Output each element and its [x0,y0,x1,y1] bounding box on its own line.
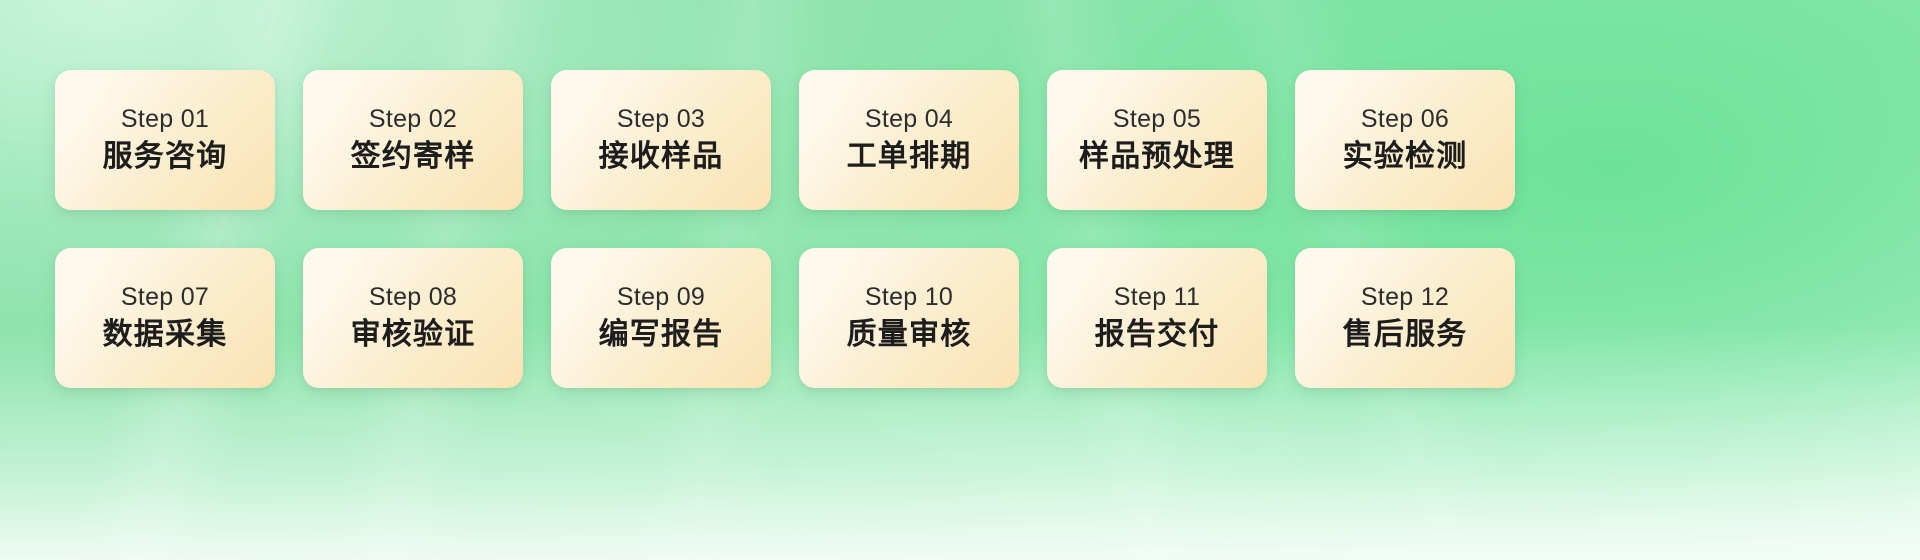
step-label: 服务咨询 [103,140,228,175]
step-label: 签约寄样 [351,140,476,175]
step-label: 报告交付 [1095,318,1220,353]
step-number: Step 01 [121,106,209,134]
step-label: 工单排期 [847,140,972,175]
step-card-04[interactable]: Step 04 工单排期 [799,70,1019,210]
step-number: Step 10 [865,284,953,312]
step-card-07[interactable]: Step 07 数据采集 [55,248,275,388]
step-card-05[interactable]: Step 05 样品预处理 [1047,70,1267,210]
step-number: Step 02 [369,106,457,134]
steps-grid: Step 01 服务咨询 Step 02 签约寄样 Step 03 接收样品 S… [55,70,1865,388]
step-number: Step 08 [369,284,457,312]
step-number: Step 12 [1361,284,1449,312]
step-card-06[interactable]: Step 06 实验检测 [1295,70,1515,210]
step-label: 售后服务 [1343,318,1468,353]
step-card-11[interactable]: Step 11 报告交付 [1047,248,1267,388]
process-steps-banner: Step 01 服务咨询 Step 02 签约寄样 Step 03 接收样品 S… [0,0,1920,560]
step-card-01[interactable]: Step 01 服务咨询 [55,70,275,210]
step-card-03[interactable]: Step 03 接收样品 [551,70,771,210]
step-number: Step 06 [1361,106,1449,134]
step-card-08[interactable]: Step 08 审核验证 [303,248,523,388]
step-number: Step 07 [121,284,209,312]
step-label: 编写报告 [599,318,724,353]
step-number: Step 09 [617,284,705,312]
step-number: Step 03 [617,106,705,134]
step-label: 实验检测 [1343,140,1468,175]
step-label: 样品预处理 [1079,140,1235,175]
step-label: 接收样品 [599,140,724,175]
step-card-12[interactable]: Step 12 售后服务 [1295,248,1515,388]
step-number: Step 04 [865,106,953,134]
step-label: 审核验证 [351,318,476,353]
step-card-09[interactable]: Step 09 编写报告 [551,248,771,388]
step-card-10[interactable]: Step 10 质量审核 [799,248,1019,388]
step-label: 质量审核 [847,318,972,353]
step-label: 数据采集 [103,318,228,353]
step-number: Step 11 [1114,284,1200,312]
step-card-02[interactable]: Step 02 签约寄样 [303,70,523,210]
step-number: Step 05 [1113,106,1201,134]
